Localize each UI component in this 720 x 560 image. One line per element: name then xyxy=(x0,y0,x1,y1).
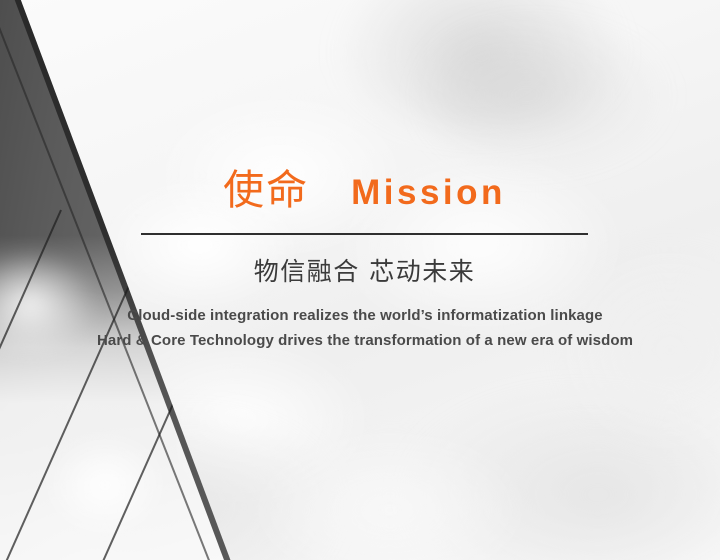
heading-row: 使命 Mission xyxy=(141,170,588,211)
title-divider xyxy=(141,233,588,235)
description-block: Cloud-side integration realizes the worl… xyxy=(60,303,670,353)
banner-content: 使命 Mission 物信融合 芯动未来 Cloud-side integrat… xyxy=(0,0,720,560)
description-line-2: Hard & Core Technology drives the transf… xyxy=(60,328,670,353)
page-title-cn: 使命 xyxy=(223,170,309,211)
mission-banner: 使命 Mission 物信融合 芯动未来 Cloud-side integrat… xyxy=(0,0,720,560)
description-line-1: Cloud-side integration realizes the worl… xyxy=(60,303,670,328)
subtitle-cn: 物信融合 芯动未来 xyxy=(141,256,588,289)
page-title-en: Mission xyxy=(351,175,506,210)
